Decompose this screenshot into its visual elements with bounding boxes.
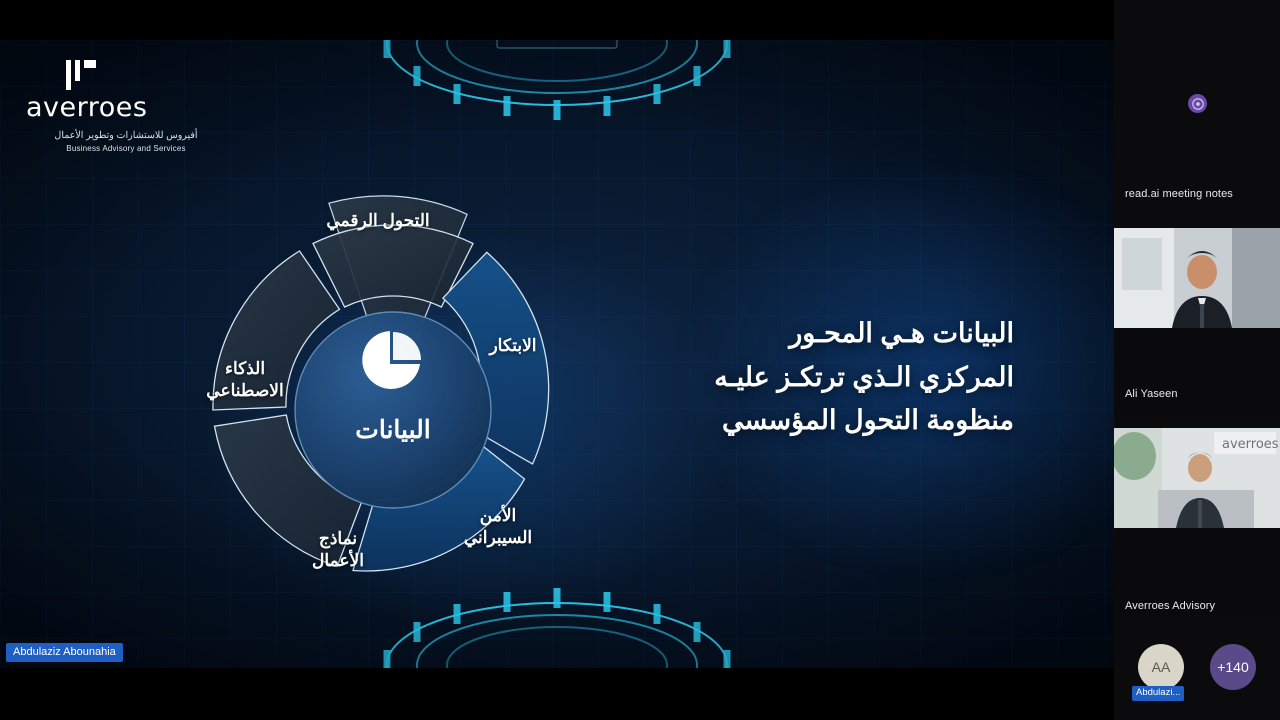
segment-label-digital-transformation: التحول الرقمي <box>288 210 468 232</box>
video-feed-ali-yaseen <box>1114 228 1280 328</box>
logo-arabic-tagline: أفيروس للاستشارات وتطوير الأعمال <box>26 130 226 141</box>
participant-tile-ali-yaseen[interactable]: Ali Yaseen <box>1114 228 1280 418</box>
avatar-initials: AA <box>1152 659 1171 675</box>
shared-screen-slide[interactable]: averroes أفيروس للاستشارات وتطوير الأعما… <box>0 40 1114 668</box>
slide-headline: البيانات هـي المحـور المركزي الـذي ترتكـ… <box>654 312 1014 443</box>
read-ai-icon <box>1188 94 1207 113</box>
headline-line-1: البيانات هـي المحـور <box>654 312 1014 356</box>
participant-name-read-ai: read.ai meeting notes <box>1125 188 1233 200</box>
avatar-overflow-label: +140 <box>1217 659 1249 675</box>
segment-label-innovation: الابتكار <box>458 335 568 357</box>
presenter-name-badge: Abdulaziz Abounahia <box>6 643 123 662</box>
participant-name-ali-yaseen: Ali Yaseen <box>1125 388 1178 400</box>
participant-tile-averroes-advisory[interactable]: averroes Averroes Advisory <box>1114 428 1280 618</box>
segment-label-business-models: نماذج الأعمال <box>273 528 403 572</box>
avatar-abdulaziz[interactable]: AA <box>1138 644 1184 690</box>
avatar-overflow-count[interactable]: +140 <box>1210 644 1256 690</box>
participant-rail: read.ai meeting notes Ali Yaseen <box>1114 0 1280 720</box>
headline-line-3: منظومة التحول المؤسسي <box>654 399 1014 443</box>
logo-wordmark: averroes <box>26 94 226 121</box>
segment-label-artificial-intelligence: الذكاء الاصطناعي <box>180 358 310 402</box>
meeting-window: averroes أفيروس للاستشارات وتطوير الأعما… <box>0 0 1280 720</box>
logo-english-tagline: Business Advisory and Services <box>26 144 226 153</box>
video-feed-averroes-advisory: averroes <box>1114 428 1280 528</box>
svg-text:averroes: averroes <box>1222 437 1279 452</box>
averroes-logo-mark-icon <box>66 60 100 90</box>
participant-tile-read-ai[interactable]: read.ai meeting notes <box>1114 60 1280 220</box>
participant-name-averroes-advisory: Averroes Advisory <box>1125 600 1215 612</box>
donut-center-label: البيانات <box>308 415 478 445</box>
headline-line-2: المركزي الـذي ترتكـز عليـه <box>654 356 1014 400</box>
averroes-logo: averroes أفيروس للاستشارات وتطوير الأعما… <box>26 60 226 153</box>
avatar-row: AA Abdulazi... +140 <box>1114 640 1280 700</box>
data-core-donut-diagram: التحول الرقمي الابتكار الأمن السيبراني ن… <box>168 170 618 620</box>
segment-label-cybersecurity: الأمن السيبراني <box>438 505 558 549</box>
avatar-name-badge-abdulaziz: Abdulazi... <box>1132 686 1184 701</box>
